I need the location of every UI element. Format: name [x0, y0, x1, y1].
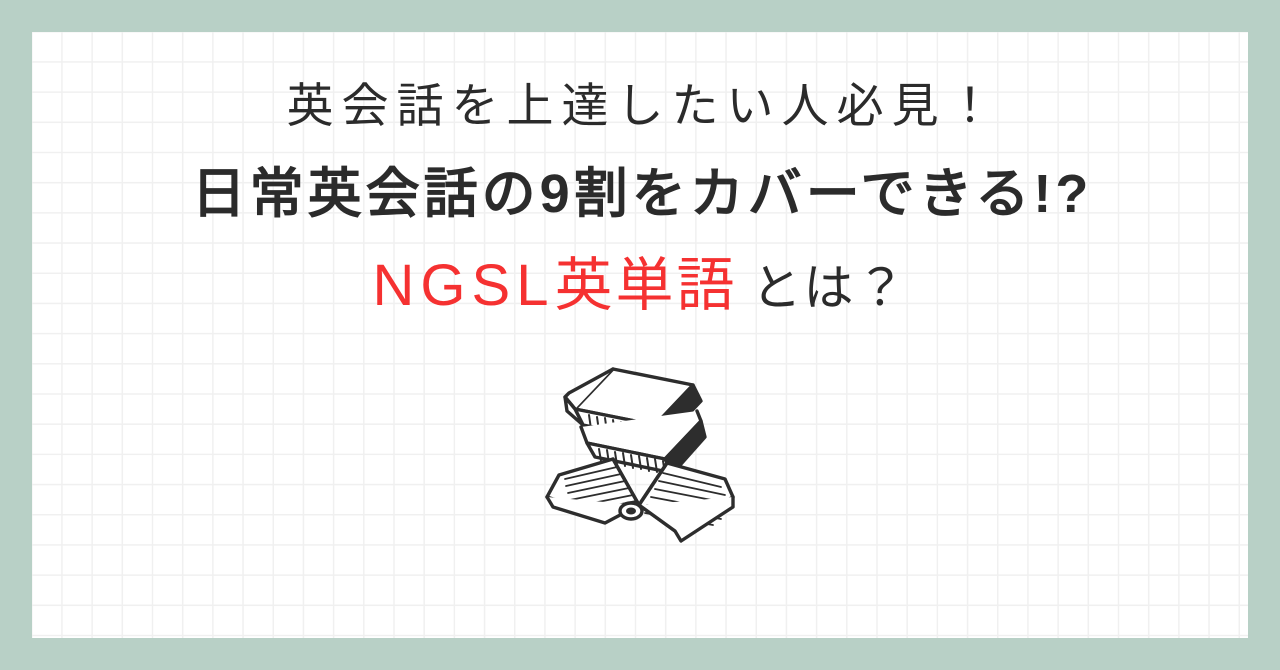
- grid-paper-card: 英会話を上達したい人必見！ 日常英会話の9割をカバーできる!? NGSL英単語と…: [32, 32, 1248, 638]
- accent-term-latin: NGSL: [373, 253, 555, 318]
- books-icon: [535, 355, 745, 545]
- headline-tail: とは？: [751, 260, 907, 316]
- books-illustration: [535, 355, 745, 545]
- headline-line-3: NGSL英単語とは？: [32, 257, 1248, 315]
- accent-term-kanji: 英単語: [554, 253, 737, 318]
- headline-line-2: 日常英会話の9割をカバーできる!?: [32, 167, 1248, 221]
- headline-line-1: 英会話を上達したい人必見！: [32, 82, 1248, 129]
- content-stack: 英会話を上達したい人必見！ 日常英会話の9割をカバーできる!? NGSL英単語と…: [32, 32, 1248, 638]
- thumbnail-canvas: 英会話を上達したい人必見！ 日常英会話の9割をカバーできる!? NGSL英単語と…: [0, 0, 1280, 670]
